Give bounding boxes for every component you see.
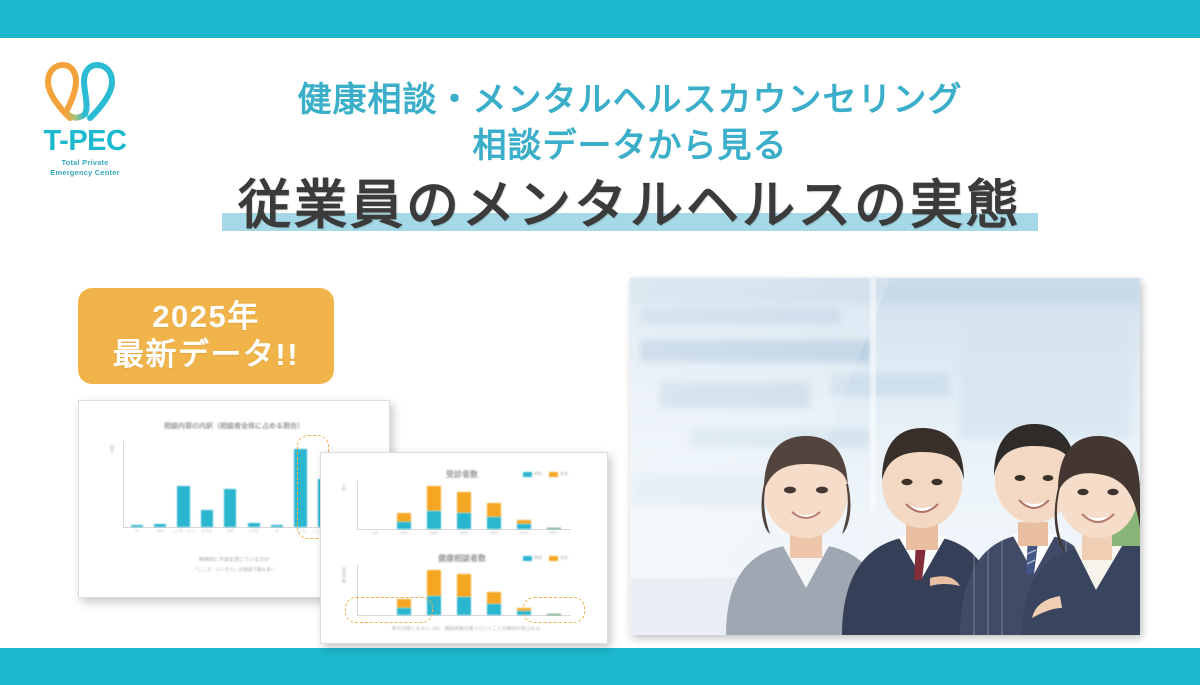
hero-photo xyxy=(630,278,1140,635)
chart-x-tick: 50代 xyxy=(479,531,509,536)
logo-tagline: Total Private Emergency Center xyxy=(24,158,146,177)
chart-bar-segment xyxy=(457,574,471,597)
subtitle-line-1: 健康相談・メンタルヘルスカウンセリング xyxy=(150,78,1110,124)
chart-bar xyxy=(359,481,389,529)
chart-bar xyxy=(148,441,171,527)
chart-bar-segment xyxy=(397,608,411,615)
chart-bar-segment xyxy=(397,513,411,522)
chart-bar-segment xyxy=(457,513,471,529)
chart-bar-segment xyxy=(517,611,531,615)
logo-wordmark: T-PEC xyxy=(24,126,146,156)
chart-bar xyxy=(449,565,479,615)
legend-label-male-2: 男性 xyxy=(534,555,542,561)
chart-bar-segment xyxy=(177,486,189,527)
chart-x-tick: こども xyxy=(289,529,312,534)
office-team-photo-illustration xyxy=(630,278,1140,635)
legend-item-female-visitors: 女性 xyxy=(549,471,568,477)
chart-x-tick: 60代 xyxy=(509,531,539,536)
logo-tagline-line2: Emergency Center xyxy=(24,168,146,177)
chart-x-tick: け xyxy=(265,529,288,534)
chart-x-tick: 30代 xyxy=(419,531,449,536)
chart-bar xyxy=(419,481,449,529)
chart-bar-segment xyxy=(427,511,441,529)
chart-bar xyxy=(419,565,449,615)
chart-bar xyxy=(509,481,539,529)
chart-bar xyxy=(359,565,389,615)
report-card-front: 受診者数 男性 女性 人数 〜1920代30代40代50代60代70代〜 健康相… xyxy=(320,452,608,644)
chart-bar-segment xyxy=(154,524,166,527)
chart-bar-segment xyxy=(427,596,441,615)
badge-line-1: 2025年 xyxy=(152,298,259,336)
chart-bar-segment xyxy=(248,523,260,527)
chart-bar-segment xyxy=(294,449,306,527)
chart-y-axis-label-visitors: 人数 xyxy=(341,483,347,527)
legend-item-male-consultations: 男性 xyxy=(523,555,542,561)
chart-title-consultations: 健康相談者数 xyxy=(382,553,542,564)
chart-bar-segment xyxy=(457,492,471,513)
chart-x-tick: か xyxy=(125,529,148,534)
chart-y-axis-visitors xyxy=(357,481,358,529)
chart-bar-segment xyxy=(547,528,561,529)
chart-bar-segment xyxy=(457,597,471,615)
headline-block: 健康相談・メンタルヘルスカウンセリング 相談データから見る 従業員のメンタルヘル… xyxy=(150,78,1110,237)
legend-label-male: 男性 xyxy=(534,471,542,477)
chart-y-axis xyxy=(123,441,124,527)
tpec-logo: T-PEC Total Private Emergency Center xyxy=(24,62,146,190)
chart-y-axis-consultations xyxy=(357,565,358,615)
chart-bar xyxy=(539,481,569,529)
chart-plot-area-visitors xyxy=(359,481,569,529)
chart-bar-segment xyxy=(487,517,501,529)
subtitle-line-2: 相談データから見る xyxy=(150,124,1110,170)
chart-bar xyxy=(265,441,288,527)
chart-bar-segment xyxy=(224,489,236,527)
chart-bar-segment xyxy=(427,570,441,596)
marketing-banner: T-PEC Total Private Emergency Center 健康相… xyxy=(0,0,1200,685)
chart-bar xyxy=(289,441,312,527)
chart-bar xyxy=(389,565,419,615)
chart-bar xyxy=(539,565,569,615)
chart-x-tick: からだ xyxy=(195,529,218,534)
chart-plot-area-consultations xyxy=(359,565,569,615)
chart-x-tick: 〜19 xyxy=(359,531,389,536)
chart-bar xyxy=(195,441,218,527)
bottom-accent-bar xyxy=(0,648,1200,685)
chart-bar-segment xyxy=(397,522,411,530)
chart-bar xyxy=(125,441,148,527)
chart-x-tick: 40代 xyxy=(449,531,479,536)
chart-bar-segment xyxy=(131,525,143,527)
legend-item-male-visitors: 男性 xyxy=(523,471,542,477)
main-title-text: 従業員のメンタルヘルスの実態 xyxy=(238,175,1022,236)
page-title: 従業員のメンタルヘルスの実態 xyxy=(234,175,1026,236)
status-badge: 2025年 最新データ!! xyxy=(78,288,334,384)
chart-bar-segment xyxy=(487,604,501,615)
top-accent-bar xyxy=(0,0,1200,38)
chart-bar xyxy=(449,481,479,529)
chart-bar xyxy=(172,441,195,527)
chart-x-tick: 20代 xyxy=(389,531,419,536)
chart-x-tick: 70代〜 xyxy=(539,531,569,536)
chart-x-tick: きの xyxy=(148,529,171,534)
chart-x-axis-visitors xyxy=(357,529,571,530)
chart-legend-visitors: 男性 女性 xyxy=(523,471,568,477)
chart-note-consultations: 年代が高くなるにつれ、相談件数が減っていくことが傾向が見られる xyxy=(339,625,593,632)
chart-bar-segment xyxy=(517,524,531,529)
chart-bar-segment xyxy=(271,525,283,527)
chart-bar-segment xyxy=(487,592,501,605)
legend-item-female-consultations: 女性 xyxy=(549,555,568,561)
chart-x-tick: こころ・メンタル xyxy=(172,529,195,534)
chart-bar-segment xyxy=(397,599,411,608)
chart-x-tick: けが xyxy=(219,529,242,534)
chart-bar xyxy=(509,565,539,615)
chart-x-axis-consultations xyxy=(357,615,571,616)
logo-tagline-line1: Total Private xyxy=(24,158,146,167)
legend-label-female: 女性 xyxy=(560,471,568,477)
chart-bar xyxy=(389,481,419,529)
chart-x-tick-labels-visitors: 〜1920代30代40代50代60代70代〜 xyxy=(359,531,569,536)
legend-swatch-female-2 xyxy=(549,556,558,561)
report-card-front-page: 受診者数 男性 女性 人数 〜1920代30代40代50代60代70代〜 健康相… xyxy=(327,459,601,637)
chart-y-axis-label: 割合 xyxy=(109,445,115,523)
legend-swatch-male xyxy=(523,472,532,477)
badge-line-2: 最新データ!! xyxy=(113,336,299,374)
legend-swatch-male-2 xyxy=(523,556,532,561)
chart-bar-segment xyxy=(487,503,501,517)
chart-y-axis-label-consultations: 相談件数 xyxy=(341,567,347,613)
chart-title-visitors: 受診者数 xyxy=(387,469,537,480)
chart-x-tick: くすり xyxy=(242,529,265,534)
chart-bar xyxy=(479,565,509,615)
chart-bar xyxy=(242,441,265,527)
chart-bar xyxy=(479,481,509,529)
chart-bar-segment xyxy=(547,614,561,615)
legend-label-female-2: 女性 xyxy=(560,555,568,561)
chart-legend-consultations: 男性 女性 xyxy=(523,555,568,561)
chart-bar-segment xyxy=(427,486,441,511)
chart-bar xyxy=(219,441,242,527)
legend-swatch-female xyxy=(549,472,558,477)
chart-bar-segment xyxy=(201,510,213,527)
chart-title-breakdown: 相談内容の内訳（相談者全体に占める割合） xyxy=(109,421,359,431)
ribbon-logo-icon xyxy=(40,62,130,124)
